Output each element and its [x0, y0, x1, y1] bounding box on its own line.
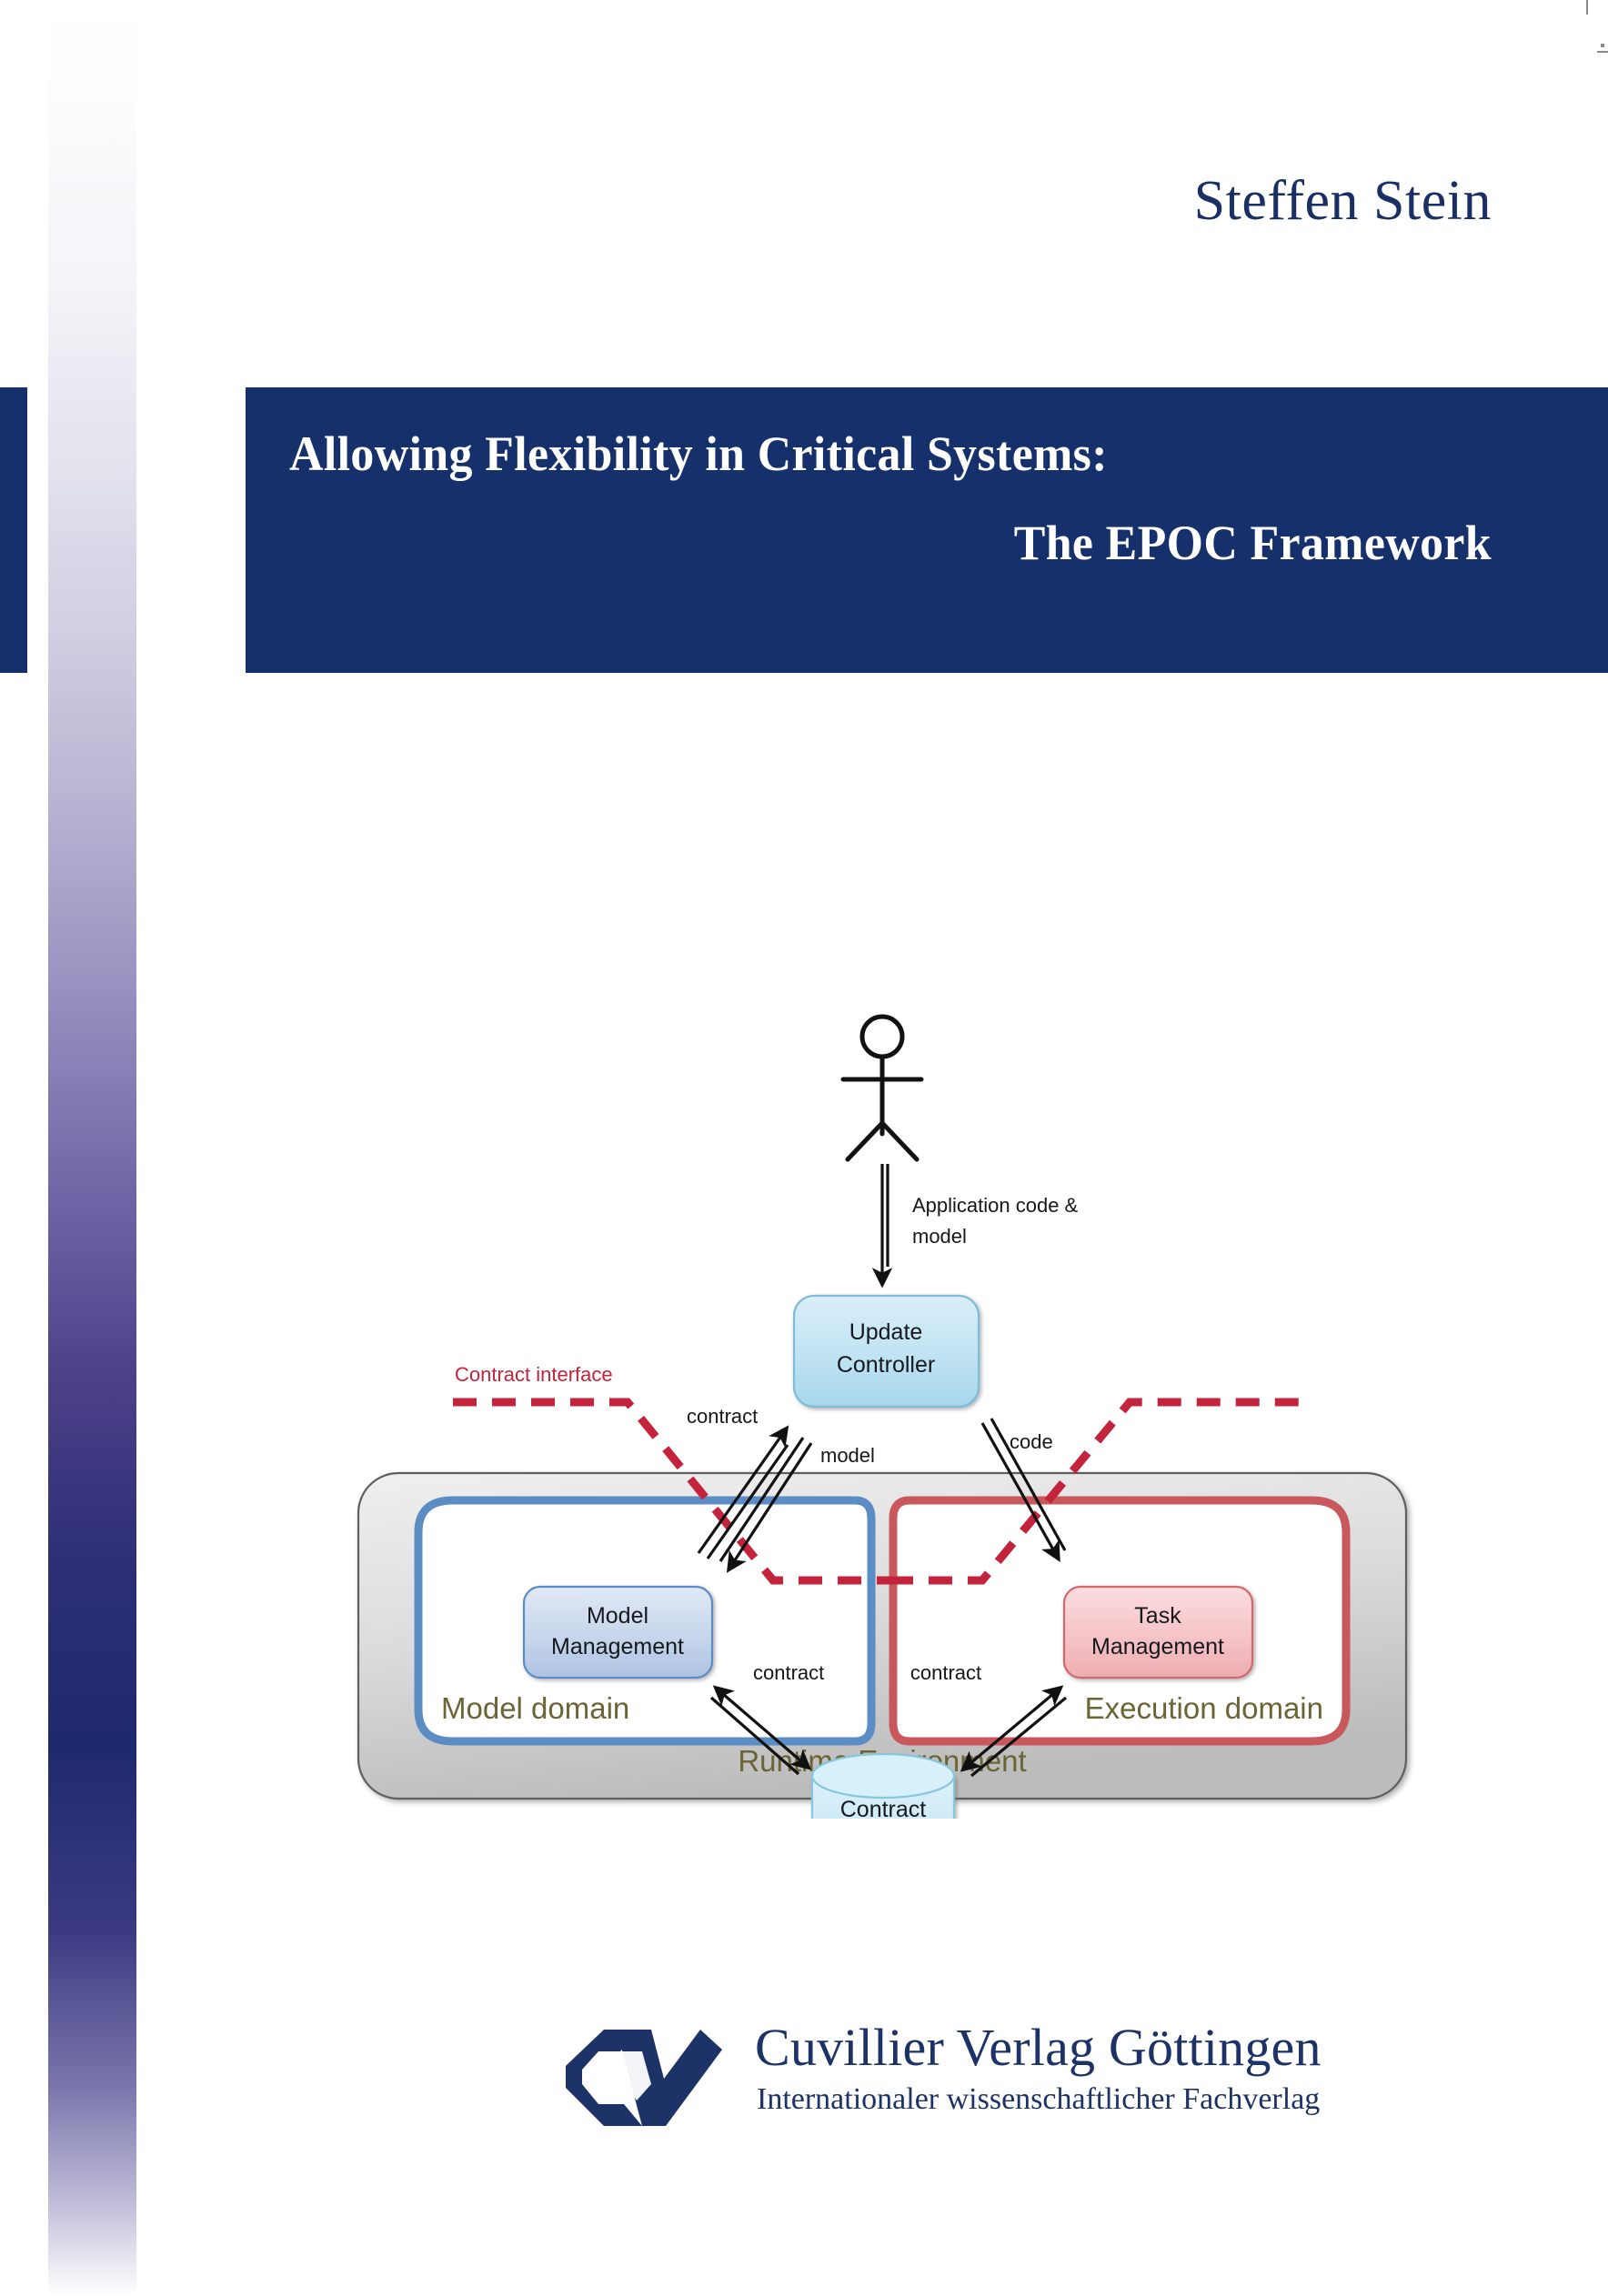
node-task-management[interactable]: Task Management [1064, 1587, 1252, 1678]
author-name: Steffen Stein [1194, 169, 1492, 234]
edge-label-contract-right: contract [910, 1661, 981, 1684]
edge-application-code-and-model: Application code & model [882, 1164, 1079, 1283]
publisher-tagline: Internationaler wissenschaftlicher Fachv… [757, 2082, 1320, 2117]
stick-figure-actor-icon [843, 1017, 921, 1159]
crop-mark-vertical [1586, 0, 1588, 15]
node-update-controller[interactable]: Update Controller [794, 1296, 979, 1407]
edge-label-line1: Application code & [912, 1194, 1079, 1217]
contract-interface-label: Contract interface [455, 1363, 613, 1386]
task-management-shape[interactable] [1064, 1587, 1252, 1678]
edge-label-contract-left: contract [753, 1661, 824, 1684]
crop-mark-dot [1601, 44, 1604, 47]
title-band: Allowing Flexibility in Critical Systems… [246, 387, 1608, 673]
edge-label-code: code [1010, 1430, 1053, 1453]
actor-leg-left [848, 1123, 882, 1159]
model-management-label-line1: Model [587, 1603, 648, 1629]
publisher-block: Cuvillier Verlag Göttingen International… [564, 2017, 1428, 2181]
crop-mark-horizontal [1597, 51, 1608, 53]
update-controller-label-line2: Controller [837, 1352, 935, 1378]
update-controller-label-line1: Update [849, 1319, 923, 1345]
node-model-management[interactable]: Model Management [524, 1587, 712, 1678]
actor-leg-right [882, 1123, 917, 1159]
title-line-primary: Allowing Flexibility in Critical Systems… [289, 426, 1443, 484]
actor-head [862, 1017, 902, 1057]
contract-repository-label-line1: Contract [840, 1797, 927, 1819]
publisher-name: Cuvillier Verlag Göttingen [755, 2017, 1322, 2078]
model-management-shape[interactable] [524, 1587, 712, 1678]
spine-gradient-bar [48, 0, 136, 2296]
contract-repository-top [812, 1754, 954, 1798]
title-line-secondary: The EPOC Framework [337, 515, 1492, 573]
left-edge-navy-tab [0, 387, 27, 673]
edge-label-line2: model [912, 1225, 967, 1248]
node-contract-repository[interactable]: Contract Repository [812, 1754, 954, 1819]
update-controller-shape[interactable] [794, 1296, 979, 1407]
cuvillier-cv-monogram-icon [564, 2024, 724, 2133]
execution-domain-label: Execution domain [1085, 1691, 1323, 1725]
task-management-label-line1: Task [1134, 1603, 1181, 1629]
model-domain-label: Model domain [441, 1691, 629, 1725]
task-management-label-line2: Management [1091, 1634, 1224, 1659]
epoc-architecture-diagram: Runtime Environment Model domain Executi… [346, 996, 1419, 1819]
edge-label-contract-up: contract [687, 1405, 758, 1428]
edge-label-model-down: model [820, 1444, 875, 1467]
model-management-label-line2: Management [551, 1634, 684, 1659]
